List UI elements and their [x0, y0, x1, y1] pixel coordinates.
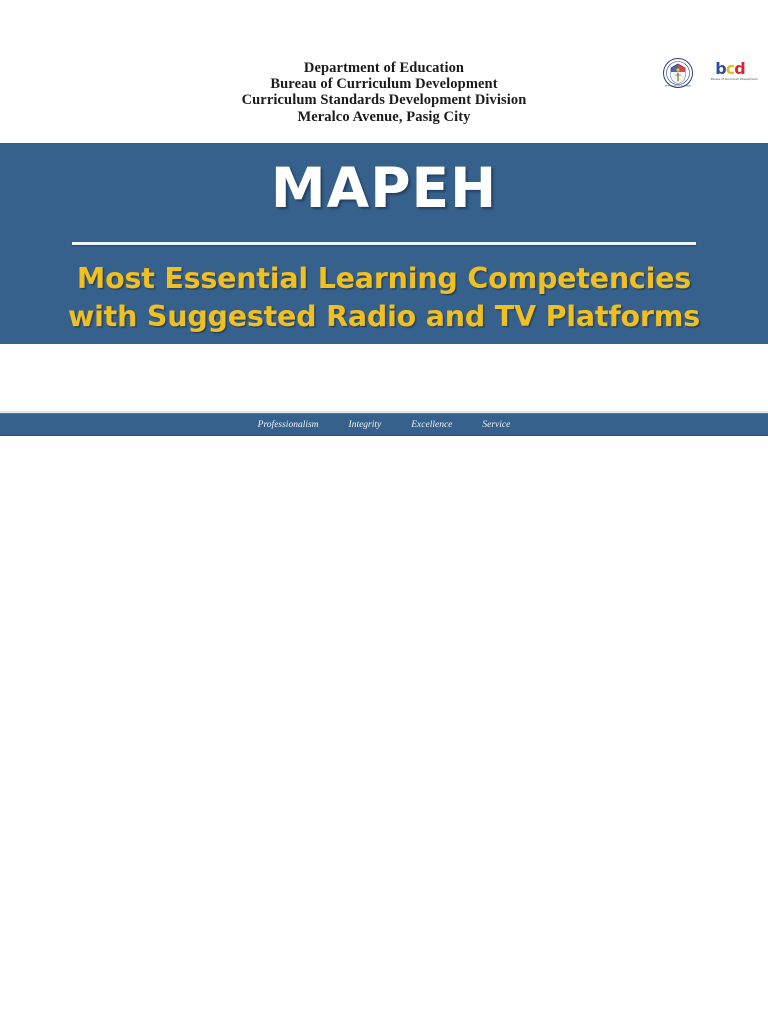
- page-subtitle-line-1: Most Essential Learning Competencies: [60, 260, 708, 298]
- page-subtitle-line-2: with Suggested Radio and TV Platforms: [60, 298, 708, 336]
- bcd-letter-c: c: [726, 59, 734, 78]
- bcd-letter-d: d: [734, 59, 744, 78]
- agency-line-department: Department of Education: [0, 60, 768, 76]
- core-value-service: Service: [482, 420, 510, 431]
- core-value-integrity: Integrity: [349, 420, 382, 431]
- page-body-blank-area: [0, 436, 768, 1024]
- title-banner: MAPEH Most Essential Learning Competenci…: [0, 143, 768, 344]
- page-title: MAPEH: [0, 157, 768, 219]
- core-value-excellence: Excellence: [411, 420, 452, 431]
- core-values-list: Professionalism Integrity Excellence Ser…: [0, 414, 768, 437]
- bcd-tagline: Bureau of Curriculum Development: [711, 78, 749, 82]
- agency-line-division: Curriculum Standards Development Divisio…: [0, 92, 768, 108]
- letterhead: Department of Education Bureau of Curric…: [0, 0, 768, 143]
- title-divider: [72, 242, 696, 245]
- bcd-logo: bcd Bureau of Curriculum Development: [710, 59, 750, 87]
- agency-line-address: Meralco Avenue, Pasig City: [0, 109, 768, 125]
- agency-line-bureau: Bureau of Curriculum Development: [0, 76, 768, 92]
- core-values-band: Professionalism Integrity Excellence Ser…: [0, 413, 768, 436]
- bcd-wordmark: bcd: [710, 59, 750, 78]
- deped-seal-icon: REPUBLIKA NG PILIPINAS: [663, 58, 693, 88]
- agency-address-block: Department of Education Bureau of Curric…: [0, 60, 768, 125]
- core-value-professionalism: Professionalism: [258, 420, 319, 431]
- logo-row: REPUBLIKA NG PILIPINAS bcd Bureau of Cur…: [655, 55, 755, 95]
- bcd-letter-b: b: [715, 59, 725, 78]
- page-subtitle: Most Essential Learning Competencies wit…: [60, 260, 708, 336]
